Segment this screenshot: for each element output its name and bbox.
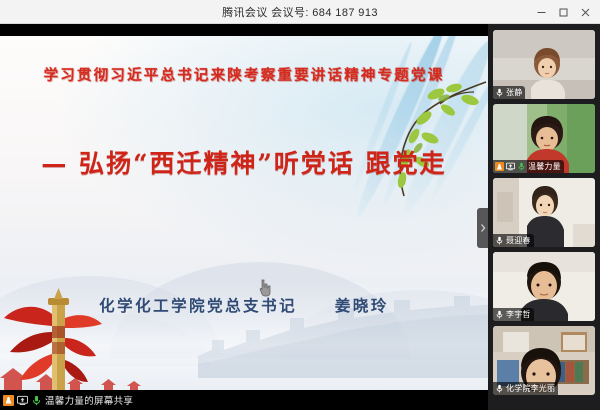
slide-presenter-line: 化学化工学院党总支书记 姜晓玲 xyxy=(0,294,488,316)
chevron-right-icon xyxy=(480,223,486,233)
participant-name: 张静 xyxy=(506,87,522,98)
meeting-stage: 学习贯彻习近平总书记来陕考察重要讲话精神专题党课 — 弘扬“西迁精神”听党话 跟… xyxy=(0,24,600,410)
participant-badge: 张静 xyxy=(493,86,525,99)
close-icon[interactable] xyxy=(574,2,596,22)
presenter-role: 化学化工学院党总支书记 xyxy=(99,296,297,315)
participant-tile[interactable]: 李宇哲 xyxy=(493,252,595,321)
participant-tile[interactable]: 化学院李光丽 xyxy=(493,326,595,395)
participant-video-rail[interactable]: 张静 xyxy=(488,24,600,410)
participant-tile[interactable]: 聂迎春 xyxy=(493,178,595,247)
screen-share-icon xyxy=(17,395,28,406)
participant-name: 聂迎春 xyxy=(506,235,531,246)
presentation-slide: 学习贯彻习近平总书记来陕考察重要讲话精神专题党课 — 弘扬“西迁精神”听党话 跟… xyxy=(0,36,488,400)
collapse-sidebar-handle[interactable] xyxy=(477,208,488,248)
screen-share-status-bar: 温馨力量的屏幕共享 xyxy=(0,390,488,410)
participant-badge: 温馨力量 xyxy=(493,160,564,173)
microphone-icon xyxy=(495,88,504,97)
presenter-name: 姜晓玲 xyxy=(335,296,389,315)
host-badge-icon xyxy=(495,162,504,171)
window-title: 腾讯会议 会议号: 684 187 913 xyxy=(222,4,378,20)
window-controls xyxy=(530,0,596,24)
share-status-label: 温馨力量的屏幕共享 xyxy=(45,393,133,407)
slide-heading: 学习贯彻习近平总书记来陕考察重要讲话精神专题党课 xyxy=(0,64,488,85)
microphone-icon xyxy=(495,384,504,393)
tencent-meeting-window: 腾讯会议 会议号: 684 187 913 xyxy=(0,0,600,410)
participant-tile[interactable]: 温馨力量 xyxy=(493,104,595,173)
slide-main-title: — 弘扬“西迁精神”听党话 跟党走 xyxy=(0,144,488,180)
participant-name: 李宇哲 xyxy=(506,309,531,320)
microphone-icon xyxy=(495,236,504,245)
host-badge-icon xyxy=(3,395,14,406)
microphone-icon xyxy=(517,162,526,171)
participant-badge: 化学院李光丽 xyxy=(493,382,558,395)
microphone-icon xyxy=(31,395,42,406)
hand-pointer-cursor xyxy=(258,279,272,297)
participant-badge: 聂迎春 xyxy=(493,234,534,247)
microphone-icon xyxy=(495,310,504,319)
participant-tile[interactable]: 张静 xyxy=(493,30,595,99)
title-bar: 腾讯会议 会议号: 684 187 913 xyxy=(0,0,600,24)
participant-badge: 李宇哲 xyxy=(493,308,534,321)
maximize-icon[interactable] xyxy=(552,2,574,22)
participant-name: 化学院李光丽 xyxy=(506,383,555,394)
shared-screen-area[interactable]: 学习贯彻习近平总书记来陕考察重要讲话精神专题党课 — 弘扬“西迁精神”听党话 跟… xyxy=(0,24,488,410)
participant-name: 温馨力量 xyxy=(528,161,561,172)
minimize-icon[interactable] xyxy=(530,2,552,22)
screen-share-icon xyxy=(506,162,515,171)
